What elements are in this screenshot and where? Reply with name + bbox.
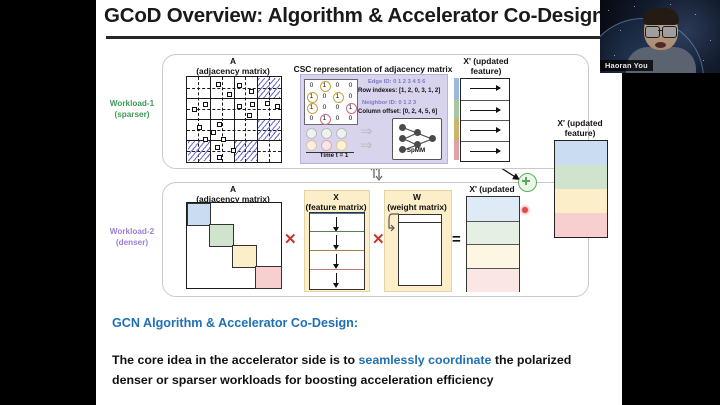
- adjacency-matrix-1-title: A (adjacency matrix): [186, 56, 280, 76]
- section-subheading: GCN Algorithm & Accelerator Co-Design:: [112, 316, 358, 330]
- slide-title: GCoD Overview: Algorithm & Accelerator C…: [104, 4, 622, 28]
- csc-cell: 0: [318, 91, 331, 102]
- adjacency-matrix-2-title: A (adjacency matrix): [186, 184, 280, 204]
- glasses-right-lens: [662, 26, 677, 38]
- sparse-adjacency-matrix: [186, 76, 282, 163]
- workload-2-label: Workload-2 (denser): [100, 226, 164, 248]
- multiply-sign-1: ✕: [284, 232, 297, 247]
- feature-band: [555, 141, 607, 166]
- merge-plus-icon: [518, 173, 537, 192]
- csc-cell: 0: [331, 102, 344, 113]
- time-slot-circle: [306, 128, 317, 139]
- webcam-name-label: Haoran You: [600, 60, 653, 71]
- updated-feature-1-title: X' (updated feature): [454, 56, 518, 76]
- laser-pointer-dot: [522, 207, 528, 213]
- feature-matrix-title: X (feature matrix): [300, 192, 372, 212]
- flow-arrow-icon: ⇒: [360, 126, 373, 137]
- row-indexes-row: Row indexes: [1, 2, 0, 3, 1, 2]: [358, 87, 440, 94]
- weight-loop-arrow-icon: [388, 212, 404, 234]
- glasses-left-lens: [645, 26, 660, 38]
- time-slot-circle: [321, 128, 332, 139]
- time-slot-circle: [306, 140, 317, 151]
- highlight-ring: [333, 92, 344, 103]
- equals-sign: =: [452, 232, 461, 247]
- edge-id-label: Edge ID: 0 1 2 3 4 5 6: [368, 79, 425, 85]
- highlight-ring: [307, 103, 318, 114]
- spmm-label: SpMM: [392, 147, 440, 154]
- final-updated-feature-title: X' (updated feature): [544, 118, 616, 138]
- webcam-panel[interactable]: Haoran You: [600, 0, 720, 73]
- highlight-ring: [307, 92, 318, 103]
- multiply-sign-2: ✕: [372, 232, 385, 247]
- final-updated-feature-matrix: [554, 140, 608, 238]
- time-slot-circle: [336, 140, 347, 151]
- column-offset-row: Column offset: [0, 2, 4, 5, 6]: [358, 108, 437, 115]
- weight-matrix-body: [398, 222, 442, 286]
- time-slot-circle: [321, 140, 332, 151]
- speaker-hair: [643, 8, 679, 25]
- csc-binary-matrix: 0 1 0 0 1 0 1 0 1 0 0 1 0 1 0 0: [304, 79, 358, 125]
- csc-cell: 0: [331, 80, 344, 91]
- neighbor-id-label: Neighbor ID: 0 1 2 3: [362, 100, 416, 106]
- feature-matrix-rows: [309, 212, 365, 290]
- csc-cell: 0: [331, 113, 344, 124]
- csc-cell: 0: [305, 80, 318, 91]
- speaker-mouth: [655, 42, 666, 48]
- highlight-ring: [346, 103, 357, 114]
- weight-matrix-title: W (weight matrix): [380, 192, 454, 212]
- time-label: Time t = 1: [304, 152, 364, 159]
- body-text-highlight: seamlessly coordinate: [359, 353, 492, 367]
- workload-1-label: Workload-1 (sparser): [100, 98, 164, 120]
- glasses-bridge: [658, 30, 663, 31]
- body-text: The core idea in the accelerator side is…: [112, 350, 612, 390]
- updated-feature-1-stripe: [454, 78, 459, 160]
- dense-adjacency-matrix: [186, 202, 282, 289]
- feature-band: [555, 165, 607, 190]
- csc-cell: 0: [344, 113, 357, 124]
- feature-band: [555, 189, 607, 214]
- highlight-ring: [320, 81, 331, 92]
- time-slot-circle: [336, 128, 347, 139]
- csc-cell: 0: [318, 102, 331, 113]
- highlight-ring: [320, 114, 331, 125]
- video-frame: GCoD Overview: Algorithm & Accelerator C…: [0, 0, 720, 405]
- csc-cell: 0: [305, 113, 318, 124]
- presentation-slide: GCoD Overview: Algorithm & Accelerator C…: [96, 0, 622, 405]
- title-divider: [106, 36, 611, 39]
- flow-arrow-icon: ⇒: [360, 140, 373, 151]
- updated-feature-2-matrix: [466, 196, 520, 292]
- csc-cell: 0: [344, 91, 357, 102]
- csc-representation-title: CSC representation of adjacency matrix: [292, 64, 454, 74]
- csc-cell: 0: [344, 80, 357, 91]
- body-text-part1: The core idea in the accelerator side is…: [112, 353, 359, 367]
- feature-band: [555, 213, 607, 237]
- updated-feature-1-matrix: [460, 78, 510, 162]
